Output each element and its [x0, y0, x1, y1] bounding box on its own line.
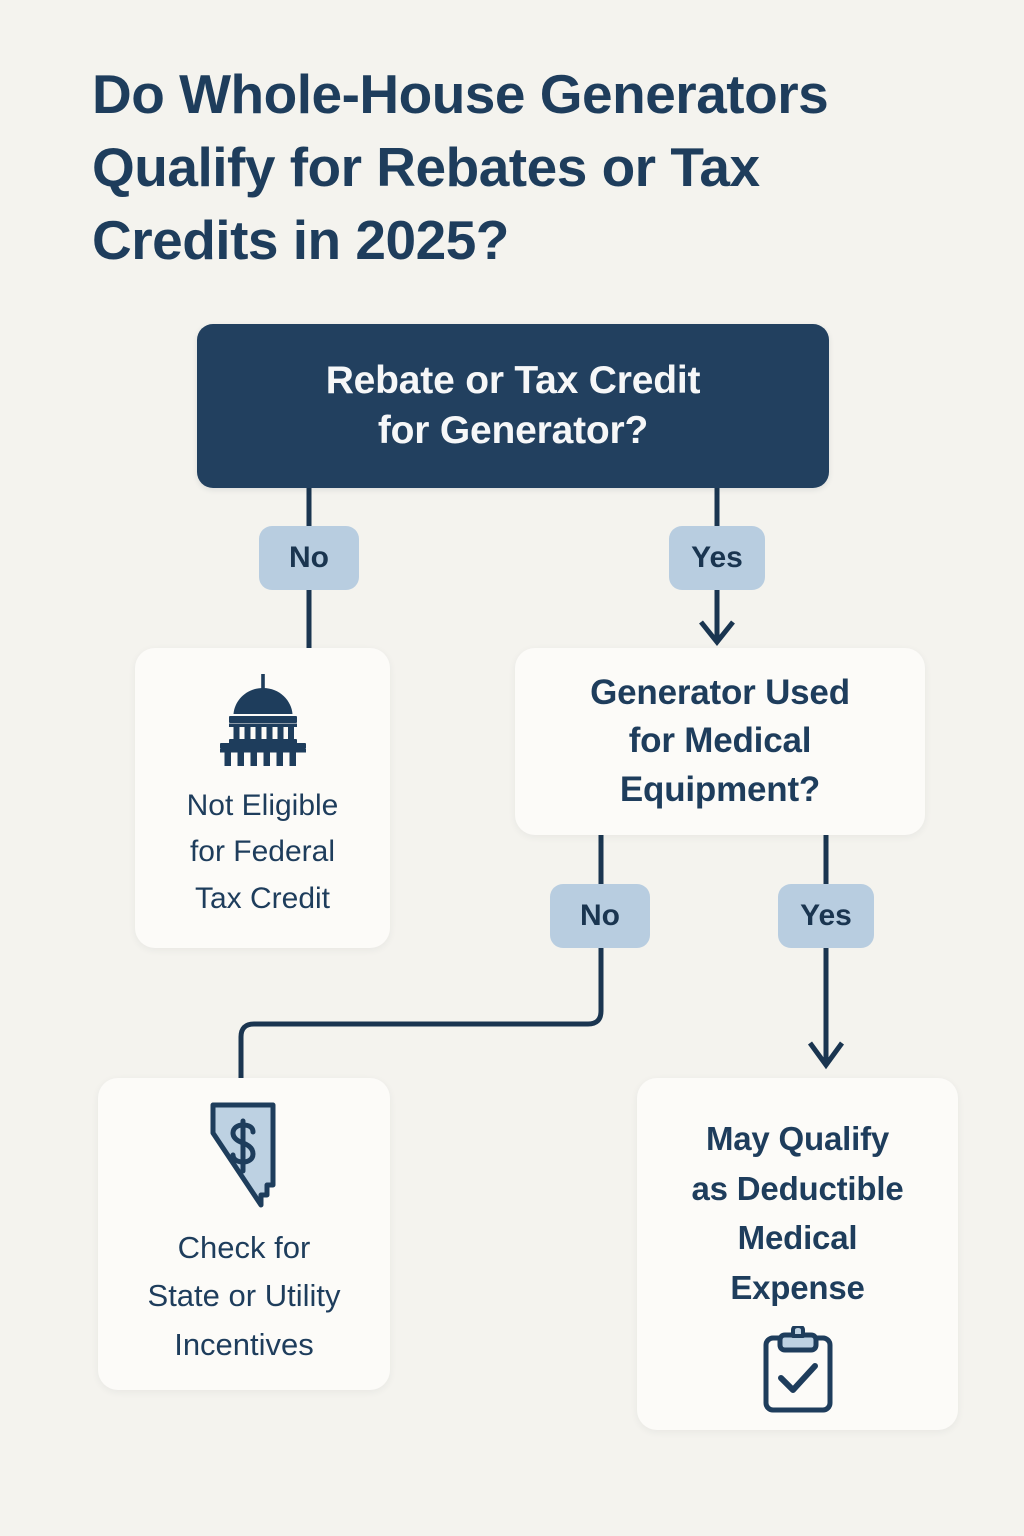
branch-label-no-1: No [259, 526, 359, 590]
branch-label-yes-1: Yes [669, 526, 765, 590]
outcome-state-incentives-card[interactable]: Check for State or Utility Incentives [98, 1078, 390, 1390]
state-outline-dollar-icon [195, 1099, 293, 1216]
outcome-not-eligible-label: Not Eligible for Federal Tax Credit [187, 783, 339, 923]
decision-medical-label: Generator Used for Medical Equipment? [590, 669, 850, 814]
outcome-medical-expense-label: May Qualify as Deductible Medical Expens… [692, 1114, 904, 1312]
clipboard-check-icon [760, 1326, 836, 1419]
outcome-medical-expense-card[interactable]: May Qualify as Deductible Medical Expens… [637, 1078, 958, 1430]
infographic-canvas: Do Whole-House Generators Qualify for Re… [0, 0, 1024, 1536]
decision-rebate-label: Rebate or Tax Credit for Generator? [326, 356, 701, 456]
branch-label-no-2: No [550, 884, 650, 948]
decision-medical-equipment[interactable]: Generator Used for Medical Equipment? [515, 648, 925, 835]
branch-label-yes-2: Yes [778, 884, 874, 948]
decision-rebate-or-tax-credit[interactable]: Rebate or Tax Credit for Generator? [197, 324, 829, 488]
capitol-dome-icon [211, 674, 315, 771]
outcome-state-incentives-label: Check for State or Utility Incentives [148, 1224, 341, 1368]
outcome-not-eligible-card[interactable]: Not Eligible for Federal Tax Credit [135, 648, 390, 948]
